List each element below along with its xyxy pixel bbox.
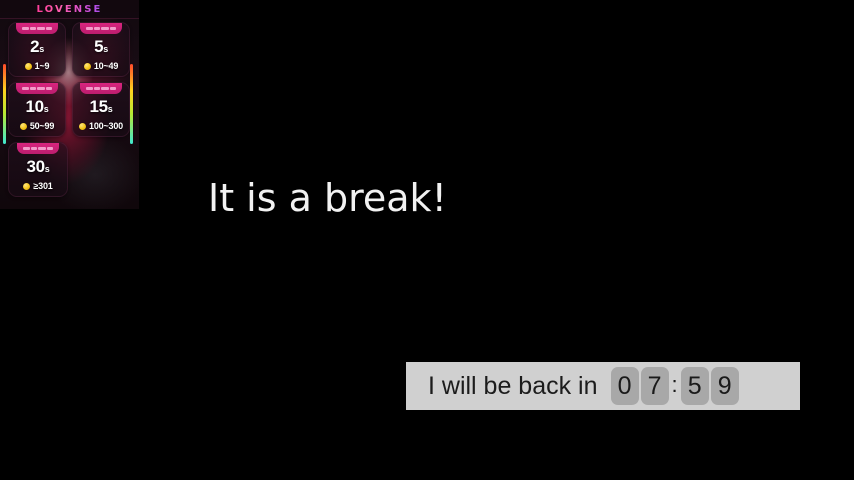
badge-blur-segment <box>31 147 37 150</box>
tip-card-range: 50~99 <box>9 121 65 131</box>
tip-card-row: 10s 50~99 15s 100~300 <box>8 82 130 137</box>
tip-card-duration-unit: s <box>103 44 108 54</box>
tip-card[interactable]: 30s ≥301 <box>8 142 68 197</box>
tip-card-duration: 2s <box>9 36 65 60</box>
countdown-digit-hours-ones: 7 <box>641 367 669 405</box>
tip-card-duration: 30s <box>9 156 67 180</box>
panel-header: LOVENSE <box>0 0 139 19</box>
tip-menu-card-grid: 2s 1~9 5s 10~49 <box>8 22 130 202</box>
coin-icon <box>23 183 30 190</box>
tip-card-row: 2s 1~9 5s 10~49 <box>8 22 130 77</box>
tip-card-range-text: 100~300 <box>89 121 123 131</box>
countdown-separator: : <box>671 372 679 398</box>
coin-icon <box>25 63 32 70</box>
tip-card-badge-blurred <box>16 83 58 94</box>
tip-card-duration-unit: s <box>45 164 50 174</box>
tip-card-range-text: 1~9 <box>35 61 50 71</box>
tip-card-duration-unit: s <box>108 104 113 114</box>
badge-blur-segment <box>86 87 93 90</box>
badge-blur-segment <box>46 87 52 90</box>
badge-blur-segment <box>110 27 116 30</box>
countdown-clock: 0 7 : 5 9 <box>611 367 739 405</box>
tip-card-range-text: ≥301 <box>33 181 52 191</box>
intensity-level-bar-left <box>3 64 6 144</box>
badge-blur-segment <box>23 147 30 150</box>
badge-blur-segment <box>94 87 100 90</box>
tip-card-duration: 10s <box>9 96 65 120</box>
intensity-level-bar-right <box>130 64 133 144</box>
badge-blur-segment <box>47 147 53 150</box>
tip-card-duration-value: 30 <box>26 157 44 176</box>
tip-card-duration-value: 5 <box>94 37 103 56</box>
countdown-banner: I will be back in 0 7 : 5 9 <box>406 362 800 410</box>
coin-icon <box>20 123 27 130</box>
badge-blur-segment <box>46 27 52 30</box>
tip-card[interactable]: 10s 50~99 <box>8 82 66 137</box>
badge-blur-segment <box>37 87 45 90</box>
tip-card[interactable]: 2s 1~9 <box>8 22 66 77</box>
tip-card-range-text: 50~99 <box>30 121 54 131</box>
tip-card-badge-blurred <box>16 23 58 34</box>
break-headline: It is a break! <box>208 172 447 224</box>
tip-card-badge-blurred <box>80 83 122 94</box>
badge-blur-segment <box>22 87 29 90</box>
countdown-label: I will be back in <box>428 372 598 401</box>
tip-card-range: ≥301 <box>9 181 67 191</box>
tip-card-duration-value: 15 <box>89 97 107 116</box>
coin-icon <box>84 63 91 70</box>
tip-card-badge-blurred <box>80 23 122 34</box>
coin-icon <box>79 123 86 130</box>
badge-blur-segment <box>37 27 45 30</box>
badge-blur-segment <box>22 27 29 30</box>
countdown-digit-hours-tens: 0 <box>611 367 639 405</box>
badge-blur-segment <box>30 87 36 90</box>
badge-blur-segment <box>38 147 46 150</box>
tip-card-duration: 15s <box>73 96 129 120</box>
tip-card-duration-value: 10 <box>25 97 43 116</box>
lovense-overlay-panel: LOVENSE 2s 1~9 <box>0 0 139 209</box>
tip-card[interactable]: 15s 100~300 <box>72 82 130 137</box>
tip-card-duration: 5s <box>73 36 129 60</box>
badge-blur-segment <box>30 27 36 30</box>
tip-card[interactable]: 5s 10~49 <box>72 22 130 77</box>
badge-blur-segment <box>110 87 116 90</box>
tip-card-duration-value: 2 <box>30 37 39 56</box>
tip-card-range: 100~300 <box>73 121 129 131</box>
tip-card-duration-unit: s <box>44 104 49 114</box>
tip-card-row: 30s ≥301 <box>8 142 130 197</box>
tip-card-duration-unit: s <box>39 44 44 54</box>
badge-blur-segment <box>94 27 100 30</box>
badge-blur-segment <box>86 27 93 30</box>
lovense-logo: LOVENSE <box>37 4 103 15</box>
tip-card-range-text: 10~49 <box>94 61 118 71</box>
tip-card-badge-blurred <box>17 143 59 154</box>
tip-card-range: 1~9 <box>9 61 65 71</box>
countdown-digit-minutes-ones: 9 <box>711 367 739 405</box>
badge-blur-segment <box>101 27 109 30</box>
badge-blur-segment <box>101 87 109 90</box>
countdown-digit-minutes-tens: 5 <box>681 367 709 405</box>
tip-card-range: 10~49 <box>73 61 129 71</box>
